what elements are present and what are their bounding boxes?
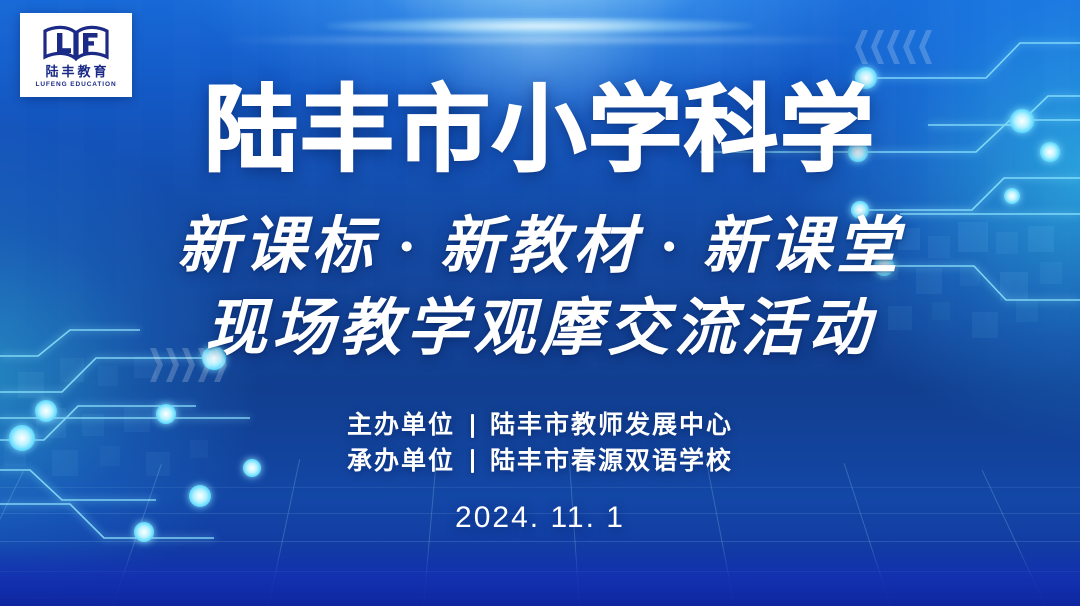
organizer-host-value: 陆丰市教师发展中心 — [490, 408, 733, 444]
poster-content: 陆丰市小学科学 新课标 · 新教材 · 新课堂 现场教学观摩交流活动 主办单位 … — [0, 0, 1080, 606]
poster-canvas: 陆丰教育 LUFENG EDUCATION 陆丰市小学科学 新课标 · 新教材 … — [0, 0, 1080, 606]
poster-subtitle-line-2: 现场教学观摩交流活动 — [0, 298, 1080, 360]
organizer-host-label: 主办单位 — [347, 408, 455, 444]
poster-title: 陆丰市小学科学 — [0, 84, 1080, 178]
organizer-row-coorganizer: 承办单位 陆丰市春源双语学校 — [0, 444, 1080, 480]
organizer-coorganizer-label: 承办单位 — [347, 444, 455, 480]
organizer-row-host: 主办单位 陆丰市教师发展中心 — [0, 408, 1080, 444]
organizer-separator — [471, 414, 474, 438]
event-date: 2024. 11. 1 — [0, 501, 1080, 535]
organizer-separator — [471, 449, 474, 473]
poster-subtitle-line-1: 新课标 · 新教材 · 新课堂 — [0, 216, 1080, 278]
organizer-coorganizer-value: 陆丰市春源双语学校 — [490, 444, 733, 480]
organizer-block: 主办单位 陆丰市教师发展中心 承办单位 陆丰市春源双语学校 — [0, 408, 1080, 479]
